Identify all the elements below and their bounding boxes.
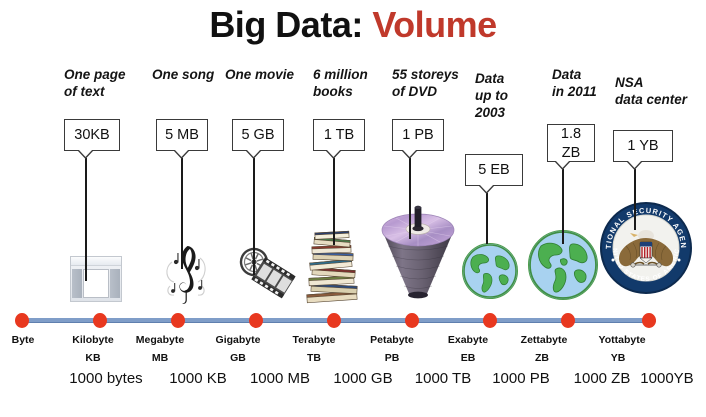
unit-name-byte: Byte [0,334,46,346]
callout-megabyte-value: 5 MB [156,119,208,151]
callout-kilobyte-notch [78,150,91,158]
unit-value-yottabyte: 1000YB [628,370,706,387]
caption-yottabyte: NSA data center [615,74,705,108]
callout-terabyte-value: 1 TB [313,119,365,151]
unit-name-gigabyte: Gigabyte [198,334,278,346]
caption-megabyte: One song [152,66,230,83]
timeline-dot-megabyte[interactable] [171,313,185,328]
timeline-dot-gigabyte[interactable] [249,313,263,328]
page-title: Big Data: Volume [0,4,706,46]
document-icon-right-panel [110,269,120,298]
nsa-seal-icon: NATIONAL SECURITY AGENCY UNITED STATES O… [600,202,692,294]
callout-petabyte-stem [409,157,411,239]
callout-megabyte-notch [174,150,187,158]
callout-terabyte-stem [333,157,335,245]
globe-small-icon [462,243,518,299]
callout-exabyte-value: 5 EB [465,154,523,186]
caption-kilobyte: One page of text [64,66,140,100]
unit-name-terabyte: Terabyte [274,334,354,346]
infographic-canvas: Big Data: Volume One page of text One so… [0,0,706,417]
unit-abbr-megabyte: MB [120,352,200,364]
unit-abbr-yottabyte: YB [576,352,660,364]
callout-exabyte-stem [486,192,488,244]
unit-name-yottabyte: Yottabyte [580,334,664,346]
callout-gigabyte-notch [246,150,259,158]
callout-yottabyte-stem [634,168,636,230]
callout-zettabyte-value: 1.8 ZB [547,124,595,162]
unit-abbr-exabyte: EB [428,352,508,364]
title-main: Big Data: [209,4,372,45]
callout-exabyte-notch [479,185,492,193]
callout-terabyte-notch [326,150,339,158]
caption-gigabyte: One movie [225,66,309,83]
callout-petabyte-value: 1 PB [392,119,444,151]
dvd-stack-icon [376,196,460,306]
callout-kilobyte-stem [85,157,87,281]
unit-abbr-gigabyte: GB [198,352,278,364]
timeline-dot-byte[interactable] [15,313,29,328]
timeline-dot-kilobyte[interactable] [93,313,107,328]
unit-abbr-petabyte: PB [352,352,432,364]
callout-gigabyte-stem [253,157,255,275]
title-accent: Volume [372,4,496,45]
callout-yottabyte-value: 1 YB [613,130,673,162]
callout-megabyte-stem [181,157,183,269]
callout-petabyte-notch [402,150,415,158]
callout-kilobyte-value: 30KB [64,119,120,151]
callout-yottabyte-notch [627,161,640,169]
caption-zettabyte: Data in 2011 [552,66,612,100]
document-icon-titlebar [71,257,121,266]
timeline-dot-exabyte[interactable] [483,313,497,328]
timeline-dot-petabyte[interactable] [405,313,419,328]
unit-name-exabyte: Exabyte [428,334,508,346]
document-icon [70,256,122,302]
music-note-icon [160,238,214,306]
unit-name-petabyte: Petabyte [352,334,432,346]
unit-abbr-terabyte: TB [274,352,354,364]
timeline-dot-terabyte[interactable] [327,313,341,328]
unit-name-zettabyte: Zettabyte [502,334,586,346]
film-reel-icon [236,245,296,303]
caption-terabyte: 6 million books [313,66,389,100]
callout-zettabyte-stem [562,168,564,244]
unit-name-megabyte: Megabyte [120,334,200,346]
caption-exabyte: Data up to 2003 [475,70,529,121]
document-icon-left-panel [72,269,82,298]
timeline-dot-yottabyte[interactable] [642,313,656,328]
unit-value-kilobyte: 1000 bytes [50,370,162,387]
callout-zettabyte-notch [555,161,568,169]
timeline-dot-zettabyte[interactable] [561,313,575,328]
unit-abbr-zettabyte: ZB [500,352,584,364]
callout-gigabyte-value: 5 GB [232,119,284,151]
caption-petabyte: 55 storeys of DVD [392,66,472,100]
